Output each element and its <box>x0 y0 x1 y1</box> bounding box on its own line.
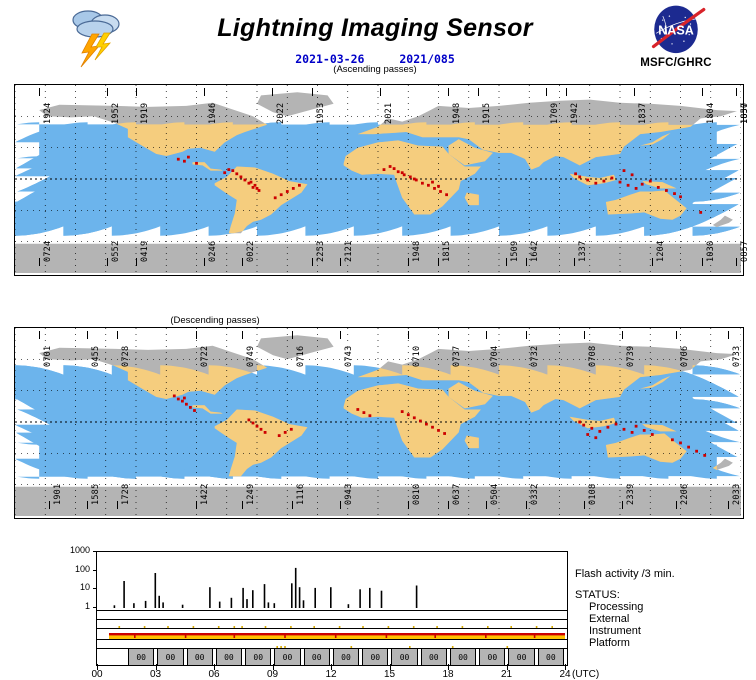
orbit-label: 0419 <box>140 241 150 262</box>
orbit-block[interactable]: 00 <box>187 649 213 665</box>
orbit-label: 2253 <box>316 241 326 262</box>
orbit-tick <box>408 331 409 339</box>
orbit-block[interactable]: 00 <box>157 649 183 665</box>
orbit-label: 0701 <box>43 346 53 367</box>
orbit-tick <box>526 331 527 339</box>
orbit-label: 1857 <box>740 103 750 124</box>
orbit-tick <box>702 88 703 96</box>
y-axis-label: 100 <box>56 564 90 574</box>
orbit-tick <box>728 331 729 339</box>
orbit-label: 0857 <box>740 241 750 262</box>
chart-legend: Flash activity /3 min. STATUS: Processin… <box>575 568 675 649</box>
orbit-label: 0943 <box>344 484 354 505</box>
external-status-line <box>109 633 565 635</box>
orbit-label: 0733 <box>732 346 742 367</box>
flash-bar <box>381 591 383 608</box>
orbit-tick <box>292 501 293 509</box>
legend-status-platform: Platform <box>589 637 675 649</box>
orbit-label: 1804 <box>706 103 716 124</box>
orbit-block[interactable]: 00 <box>333 649 359 665</box>
flash-bar <box>299 587 301 608</box>
orbit-tick <box>408 501 409 509</box>
flash-bar <box>330 587 332 608</box>
orbit-label: 1919 <box>140 103 150 124</box>
flash-bar <box>246 599 248 608</box>
orbit-label: 1942 <box>570 103 580 124</box>
orbit-tick <box>736 258 737 266</box>
orbit-tick <box>478 88 479 96</box>
world-map-svg <box>15 85 741 273</box>
orbit-label: 0706 <box>680 346 690 367</box>
ascending-map-canvas <box>15 85 743 275</box>
flash-bar <box>114 605 116 608</box>
flash-bar <box>252 590 254 608</box>
orbit-label: 2206 <box>680 484 690 505</box>
orbit-label: 0455 <box>91 346 101 367</box>
agency-caption: MSFC/GHRC <box>618 57 734 69</box>
orbit-label: 0810 <box>412 484 422 505</box>
orbit-label: 1509 <box>510 241 520 262</box>
orbit-label: 2121 <box>344 241 354 262</box>
nasa-wordmark: NASA <box>658 24 694 38</box>
orbit-tick <box>117 501 118 509</box>
orbit-block[interactable]: 00 <box>391 649 417 665</box>
orbit-tick <box>438 258 439 266</box>
orbit-label: 1948 <box>452 103 462 124</box>
x-axis-label: 03 <box>144 669 168 680</box>
flash-bar <box>155 573 157 608</box>
orbit-tick <box>242 501 243 509</box>
flash-activity-bars <box>97 552 565 608</box>
orbit-label: 0724 <box>43 241 53 262</box>
orbit-tick <box>87 501 88 509</box>
orbit-tick <box>340 331 341 339</box>
orbit-label: 0552 <box>111 241 121 262</box>
flash-bar <box>314 588 316 608</box>
lis-daily-summary-page: Lightning Imaging Sensor 2021-03-26 2021… <box>0 0 756 680</box>
orbit-tick <box>49 501 50 509</box>
legend-flash-activity: Flash activity /3 min. <box>575 568 675 580</box>
orbit-tick <box>107 88 108 96</box>
orbit-label: 0704 <box>490 346 500 367</box>
legend-status-processing: Processing <box>589 601 675 613</box>
ascending-caption: (Ascending passes) <box>160 64 590 75</box>
orbit-tick <box>196 331 197 339</box>
flash-bar <box>303 600 305 608</box>
orbit-label: 0739 <box>626 346 636 367</box>
x-axis-label: 15 <box>378 669 402 680</box>
orbit-block[interactable]: 00 <box>274 649 300 665</box>
orbit-label: 1915 <box>482 103 492 124</box>
orbit-tick <box>622 331 623 339</box>
status-tick <box>185 633 187 638</box>
orbit-tick <box>292 331 293 339</box>
orbit-tick <box>566 88 567 96</box>
orbit-label: 1204 <box>656 241 666 262</box>
orbit-label: 1642 <box>530 241 540 262</box>
page-title: Lightning Imaging Sensor <box>160 14 590 43</box>
orbit-tick <box>506 258 507 266</box>
orbit-block[interactable]: 00 <box>479 649 505 665</box>
legend-status-external: External <box>589 613 675 625</box>
orbit-tick <box>546 88 547 96</box>
flash-bar <box>242 588 244 608</box>
flash-bar <box>219 602 221 608</box>
status-tick <box>284 633 286 638</box>
orbit-label: 1815 <box>442 241 452 262</box>
nasa-meatball-icon: NASA <box>643 4 709 56</box>
orbit-label: 2033 <box>732 484 742 505</box>
orbit-label: 2021 <box>384 103 394 124</box>
orbit-label: 1116 <box>296 484 306 505</box>
orbit-tick <box>39 258 40 266</box>
orbit-tick <box>87 331 88 339</box>
status-tick <box>485 633 487 638</box>
orbit-tick <box>676 331 677 339</box>
x-axis-label: 09 <box>261 669 285 680</box>
orbit-label: 0246 <box>208 241 218 262</box>
orbit-tick <box>584 501 585 509</box>
orbit-tick <box>204 88 205 96</box>
orbit-tick <box>312 88 313 96</box>
orbit-tick <box>526 258 527 266</box>
orbit-label: 1952 <box>111 103 121 124</box>
flash-bar <box>348 604 350 608</box>
flash-bar <box>209 587 211 608</box>
orbit-label: 0332 <box>530 484 540 505</box>
orbit-label: 1249 <box>246 484 256 505</box>
orbit-label: 0722 <box>200 346 210 367</box>
orbit-label: 1728 <box>121 484 131 505</box>
orbit-block[interactable]: 00 <box>538 649 564 665</box>
orbit-label: 0732 <box>530 346 540 367</box>
orbit-tick <box>526 501 527 509</box>
flash-bar <box>133 603 135 608</box>
y-axis-tick <box>93 588 96 589</box>
orbit-block[interactable]: 00 <box>508 649 534 665</box>
orbit-tick <box>136 258 137 266</box>
orbit-block[interactable]: 00 <box>421 649 447 665</box>
orbit-label: 1337 <box>578 241 588 262</box>
x-axis-label: 00 <box>85 669 109 680</box>
orbit-label: 1948 <box>412 241 422 262</box>
y-axis-tick <box>93 551 96 552</box>
orbit-block[interactable]: 00 <box>216 649 242 665</box>
orbit-tick <box>196 501 197 509</box>
orbit-tick <box>117 331 118 339</box>
orbit-tick <box>242 258 243 266</box>
orbit-label: 1953 <box>316 103 326 124</box>
flash-bar <box>123 581 125 608</box>
orbit-label: 1030 <box>706 241 716 262</box>
orbit-label: 0716 <box>296 346 306 367</box>
orbit-label: 0749 <box>246 346 256 367</box>
orbit-block[interactable]: 00 <box>362 649 388 665</box>
status-tick <box>134 633 136 638</box>
orbit-number-axis[interactable]: 000000000000000000000000000000 <box>96 648 568 666</box>
orbit-tick <box>486 501 487 509</box>
flash-bar <box>158 596 160 608</box>
orbit-block[interactable]: 00 <box>245 649 271 665</box>
orbit-tick <box>340 258 341 266</box>
x-axis-unit: (UTC) <box>572 669 612 680</box>
orbit-tick <box>634 88 635 96</box>
flash-bar <box>274 603 276 608</box>
orbit-tick <box>39 331 40 339</box>
flash-bar <box>359 589 361 608</box>
y-axis-tick <box>93 607 96 608</box>
flash-bar <box>268 602 270 608</box>
orbit-label: 1422 <box>200 484 210 505</box>
orbit-label: 0743 <box>344 346 354 367</box>
status-tick <box>386 633 388 638</box>
orbit-tick <box>676 501 677 509</box>
x-axis-label: 06 <box>202 669 226 680</box>
legend-status-header: STATUS: <box>575 589 675 601</box>
orbit-label: 0504 <box>490 484 500 505</box>
flash-bar <box>145 601 147 608</box>
orbit-label: 1837 <box>638 103 648 124</box>
orbit-tick <box>486 331 487 339</box>
orbit-tick <box>312 258 313 266</box>
ascending-pass-map[interactable] <box>14 84 744 276</box>
orbit-tick <box>380 88 381 96</box>
orbit-tick <box>702 258 703 266</box>
orbit-label: 2339 <box>626 484 636 505</box>
orbit-tick <box>728 501 729 509</box>
x-axis-label: 18 <box>436 669 460 680</box>
flash-bar <box>264 584 266 608</box>
orbit-label: 0022 <box>246 241 256 262</box>
orbit-label: 0737 <box>452 346 462 367</box>
orbit-label: 0728 <box>121 346 131 367</box>
orbit-tick <box>272 88 273 96</box>
orbit-tick <box>622 501 623 509</box>
status-tick <box>534 633 536 638</box>
orbit-tick <box>242 331 243 339</box>
status-tick <box>434 633 436 638</box>
orbit-tick <box>448 331 449 339</box>
flash-bar <box>162 602 164 608</box>
orbit-block[interactable]: 00 <box>304 649 330 665</box>
orbit-tick <box>574 258 575 266</box>
flash-bar <box>369 588 371 608</box>
page-header: Lightning Imaging Sensor 2021-03-26 2021… <box>0 0 756 76</box>
orbit-tick <box>39 88 40 96</box>
y-axis-label: 10 <box>56 582 90 592</box>
orbit-tick <box>340 501 341 509</box>
orbit-tick <box>584 331 585 339</box>
descending-caption: (Descending passes) <box>0 315 430 326</box>
flash-bar <box>291 583 293 608</box>
orbit-tick <box>408 258 409 266</box>
y-axis-label: 1 <box>56 601 90 611</box>
orbit-block[interactable]: 00 <box>128 649 154 665</box>
y-axis-tick <box>93 570 96 571</box>
orbit-tick <box>107 258 108 266</box>
orbit-label: 0710 <box>412 346 422 367</box>
orbit-label: 1924 <box>43 103 53 124</box>
nasa-branding: NASA MSFC/GHRC <box>618 4 734 76</box>
orbit-label: 2022 <box>276 103 286 124</box>
orbit-tick <box>136 88 137 96</box>
flash-bar <box>416 586 418 609</box>
orbit-tick <box>448 501 449 509</box>
status-tick <box>234 633 236 638</box>
orbit-tick <box>652 258 653 266</box>
flash-bar <box>182 605 184 608</box>
orbit-label: 0108 <box>588 484 598 505</box>
legend-status-instrument: Instrument <box>589 625 675 637</box>
y-axis-label: 1000 <box>56 545 90 555</box>
orbit-label: 0708 <box>588 346 598 367</box>
thundercloud-icon <box>62 6 132 68</box>
flash-bar <box>231 598 233 608</box>
orbit-tick <box>736 88 737 96</box>
orbit-block[interactable]: 00 <box>450 649 476 665</box>
flash-bar <box>295 568 297 608</box>
orbit-label: 1901 <box>53 484 63 505</box>
status-tick <box>335 633 337 638</box>
orbit-tick <box>204 258 205 266</box>
orbit-label: 0637 <box>452 484 462 505</box>
orbit-label: 1585 <box>91 484 101 505</box>
flash-activity-chart[interactable] <box>96 551 568 611</box>
x-axis-label: 12 <box>319 669 343 680</box>
orbit-tick <box>448 88 449 96</box>
orbit-label: 1709 <box>550 103 560 124</box>
x-axis-label: 21 <box>495 669 519 680</box>
orbit-label: 1946 <box>208 103 218 124</box>
